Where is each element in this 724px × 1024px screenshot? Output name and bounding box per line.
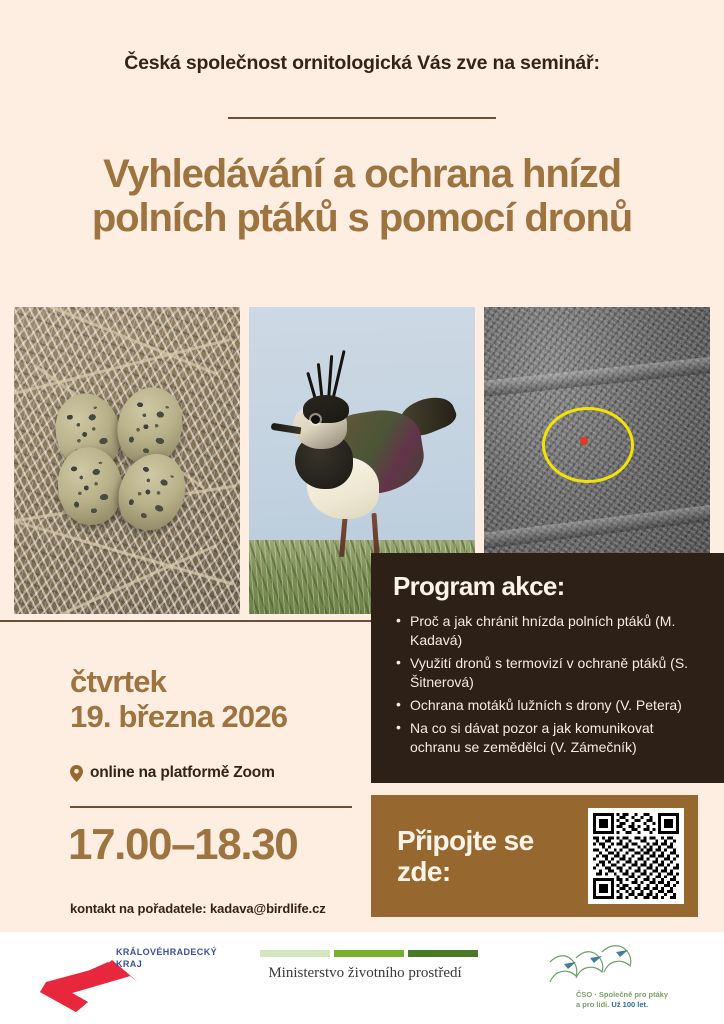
poster: Česká společnost ornitologická Vás zve n… <box>0 0 724 1024</box>
footer-logos: KRÁLOVÉHRADECKÝ KRAJ Ministerstvo životn… <box>0 932 724 1024</box>
program-item: Využití dronů s termovizí v ochraně pták… <box>410 654 702 692</box>
title-line-1: Vyhledávání a ochrana hnízd <box>103 152 621 196</box>
qr-code[interactable] <box>588 808 684 904</box>
program-heading: Program akce: <box>393 571 702 602</box>
straw-nest-background <box>14 307 240 614</box>
cso-tagline: ČSO · Společně pro ptáky a pro lidi. Už … <box>576 990 668 1011</box>
header-divider <box>228 117 496 119</box>
contact-line: kontakt na pořadatele: kadava@birdlife.c… <box>70 901 326 916</box>
cso-line-1: ČSO · Společně pro ptáky <box>576 990 668 999</box>
title-line-2: polních ptáků s pomocí dronů <box>0 196 724 240</box>
cso-birds-icon <box>546 944 654 990</box>
ministry-name: Ministerstvo životního prostředí <box>252 965 478 982</box>
logo-kralovehradecky-kraj: KRÁLOVÉHRADECKÝ KRAJ <box>38 946 218 1012</box>
event-day: čtvrtek <box>70 664 166 699</box>
nest-highlight-circle <box>542 407 634 483</box>
cso-line-2: a pro lidi. Už 100 let. <box>576 1000 668 1010</box>
program-item: Proč a jak chránit hnízda polních ptáků … <box>410 612 702 650</box>
join-label: Připojte se zde: <box>397 825 547 888</box>
kraj-label: KRÁLOVÉHRADECKÝ KRAJ <box>116 946 217 970</box>
event-venue: online na platformě Zoom <box>70 764 275 782</box>
event-date-value: 19. března 2026 <box>70 699 287 734</box>
program-panel: Program akce: Proč a jak chránit hnízda … <box>371 553 724 783</box>
program-item: Na co si dávat pozor a jak komunikovat o… <box>410 719 702 757</box>
cso-line-2-bold: Už 100 let. <box>611 1000 648 1009</box>
event-date: čtvrtek 19. března 2026 <box>70 664 287 735</box>
bird-cap <box>303 395 349 423</box>
kraj-line-2: KRAJ <box>116 959 142 969</box>
time-divider <box>70 806 352 808</box>
ministry-bars-icon <box>252 950 478 957</box>
page-title: Vyhledávání a ochrana hnízd polních pták… <box>0 152 724 241</box>
join-panel[interactable]: Připojte se zde: <box>371 795 698 917</box>
join-line-1: Připojte se <box>397 825 534 856</box>
event-time: 17.00–18.30 <box>68 820 297 870</box>
nest-marker-dot <box>580 437 588 445</box>
photo-lapwing-eggs-nest <box>14 307 240 614</box>
event-venue-label: online na platformě Zoom <box>90 764 275 782</box>
bird-eye <box>311 415 320 424</box>
location-pin-icon <box>70 765 83 782</box>
join-line-2: zde: <box>397 856 547 887</box>
logo-cso: ČSO · Společně pro ptáky a pro lidi. Už … <box>540 944 700 1016</box>
program-list: Proč a jak chránit hnízda polních ptáků … <box>393 612 702 757</box>
kraj-line-1: KRÁLOVÉHRADECKÝ <box>116 947 217 957</box>
invitation-line: Česká společnost ornitologická Vás zve n… <box>0 52 724 75</box>
qr-code-icon <box>593 813 679 899</box>
logo-ministerstvo-zivotniho-prostredi: Ministerstvo životního prostředí <box>252 950 478 982</box>
cso-line-2-plain: a pro lidi. <box>576 1000 611 1009</box>
program-item: Ochrana motáků lužních s drony (V. Peter… <box>410 696 702 715</box>
